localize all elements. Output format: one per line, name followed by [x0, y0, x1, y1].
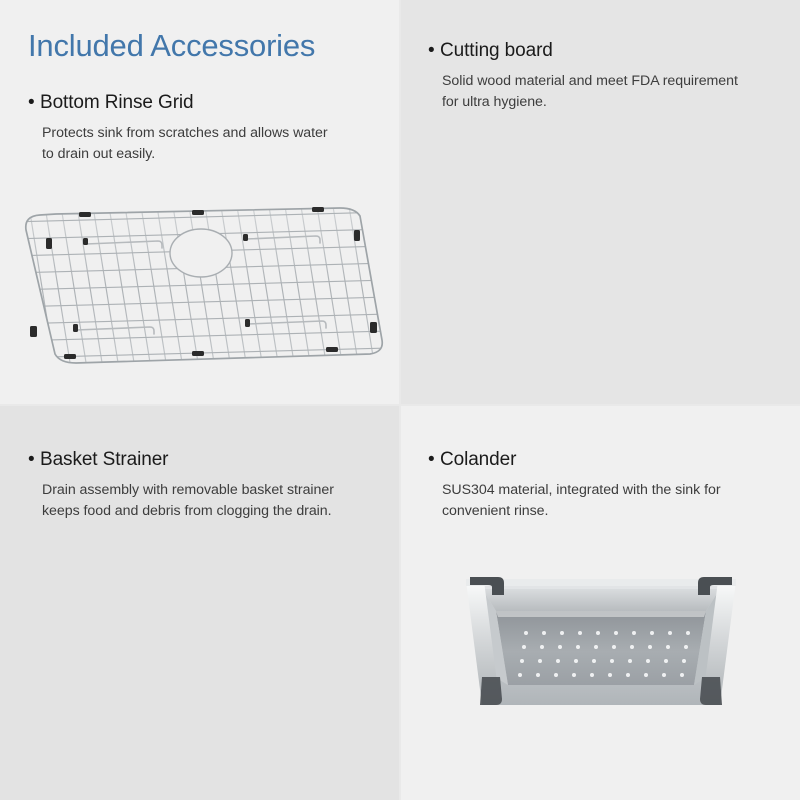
rinse-grid-photo: [10, 200, 390, 375]
item-heading: Basket Strainer: [40, 447, 168, 473]
page-title: Included Accessories: [28, 28, 315, 64]
text-block-cutting-board: • Cutting board Solid wood material and …: [428, 38, 778, 113]
panel-colander: • Colander SUS304 material, integrated w…: [400, 405, 800, 800]
accessories-infographic: Included Accessories • Bottom Rinse Grid…: [0, 0, 800, 800]
item-heading: Colander: [440, 447, 516, 473]
panel-basket-strainer: • Basket Strainer Drain assembly with re…: [0, 405, 400, 800]
heading-row: • Bottom Rinse Grid: [28, 90, 378, 116]
text-block-colander: • Colander SUS304 material, integrated w…: [428, 447, 778, 522]
colander-photo: [448, 555, 754, 720]
rinse-grid-illustration: [10, 200, 390, 375]
item-description: Protects sink from scratches and allows …: [42, 123, 342, 165]
heading-row: • Colander: [428, 447, 778, 473]
item-description: Solid wood material and meet FDA require…: [442, 71, 742, 113]
text-block-bottom-rinse-grid: • Bottom Rinse Grid Protects sink from s…: [28, 90, 378, 165]
divider-horizontal: [0, 404, 800, 406]
colander-illustration: [448, 555, 754, 720]
panel-cutting-board: • Cutting board Solid wood material and …: [400, 0, 800, 405]
bullet-icon: •: [428, 38, 440, 64]
item-heading: Cutting board: [440, 38, 553, 64]
bullet-icon: •: [428, 447, 440, 473]
panel-bottom-rinse-grid: Included Accessories • Bottom Rinse Grid…: [0, 0, 400, 405]
heading-row: • Cutting board: [428, 38, 778, 64]
bullet-icon: •: [28, 90, 40, 116]
text-block-basket-strainer: • Basket Strainer Drain assembly with re…: [28, 447, 380, 522]
bullet-icon: •: [28, 447, 40, 473]
divider-vertical: [399, 0, 401, 800]
heading-row: • Basket Strainer: [28, 447, 380, 473]
item-description: Drain assembly with removable basket str…: [42, 480, 342, 522]
item-heading: Bottom Rinse Grid: [40, 90, 194, 116]
item-description: SUS304 material, integrated with the sin…: [442, 480, 742, 522]
